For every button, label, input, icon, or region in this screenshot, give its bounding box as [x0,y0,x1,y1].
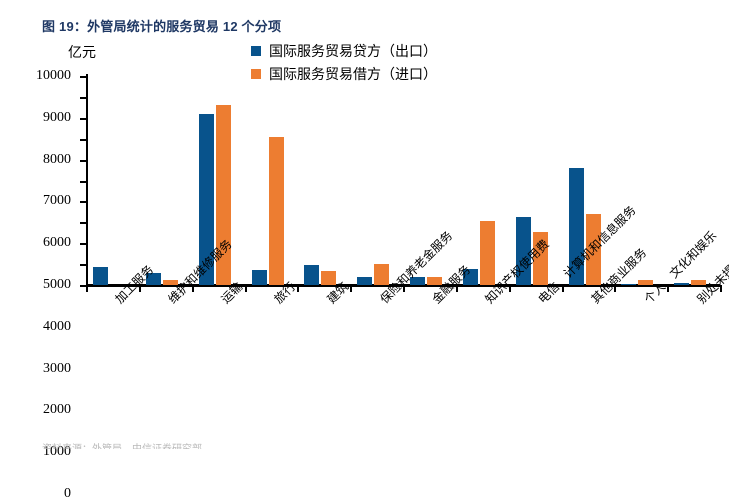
y-axis-tick-label: 8000 [43,152,71,168]
page-title: 图 19：外管局统计的服务贸易 12 个分项 [42,16,281,35]
bar-debit [269,137,284,285]
bar-credit [93,267,108,285]
plot-area: 1000090008000700060005000400030002000100… [86,76,720,285]
source-note: 资料来源：外管局，中信证券研究部 [42,440,202,449]
bar-group [245,76,298,285]
y-axis-tick-label: 9000 [43,110,71,126]
bar-debit [480,221,495,285]
bar-credit [621,284,636,286]
bar-group [86,76,139,285]
bar-debit [374,264,389,285]
bar-credit [252,270,267,285]
y-axis-tick-label: 5000 [43,277,71,293]
y-axis-tick-label: 4000 [43,319,71,335]
y-axis-tick-label: 3000 [43,361,71,377]
y-axis-tick-label: 6000 [43,235,71,251]
bar-group [350,76,403,285]
y-axis-tick-label: 10000 [36,68,71,84]
bar-group [297,76,350,285]
legend-label-credit: 国际服务贸易贷方（出口） [269,41,437,61]
y-axis-tick-label: 0 [64,486,71,502]
legend-item-credit: 国际服务贸易贷方（出口） [251,40,437,61]
bar-credit [674,283,689,285]
bar-credit [304,265,319,285]
y-axis-unit-label: 亿元 [68,42,96,62]
bar-credit [357,277,372,285]
x-axis-tick-mark [86,285,88,292]
y-axis-tick-label: 7000 [43,193,71,209]
bar-group [456,76,509,285]
legend-swatch-credit-icon [251,46,261,56]
y-axis-tick-label: 2000 [43,402,71,418]
bar-group [139,76,192,285]
